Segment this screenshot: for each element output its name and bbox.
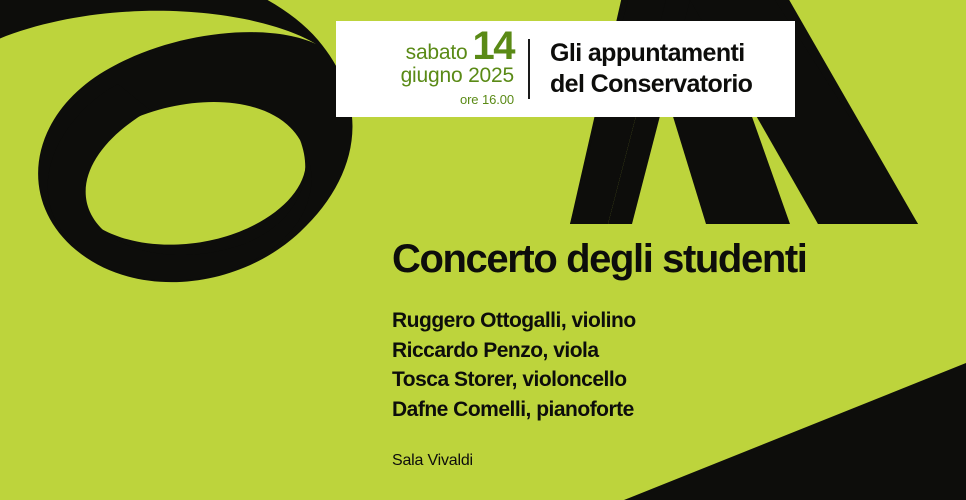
date-primary-line: sabato 14: [336, 29, 514, 63]
event-poster: sabato 14 giugno 2025 ore 16.00 Gli appu…: [0, 0, 966, 500]
performer-item: Ruggero Ottogalli, violino: [392, 306, 922, 336]
event-date-block: sabato 14 giugno 2025 ore 16.00: [336, 29, 528, 107]
performer-item: Dafne Comelli, pianoforte: [392, 395, 922, 425]
event-start-time: ore 16.00: [336, 92, 514, 107]
date-and-series-banner: sabato 14 giugno 2025 ore 16.00 Gli appu…: [336, 21, 795, 117]
performer-item: Tosca Storer, violoncello: [392, 365, 922, 395]
series-title: Gli appuntamenti del Conservatorio: [530, 38, 752, 100]
concert-title: Concerto degli studenti: [392, 238, 922, 280]
performer-list: Ruggero Ottogalli, violino Riccardo Penz…: [392, 306, 922, 424]
date-weekday: sabato: [406, 42, 468, 63]
date-day-number: 14: [473, 29, 515, 63]
venue-name: Sala Vivaldi: [392, 452, 922, 470]
event-details: Concerto degli studenti Ruggero Ottogall…: [392, 238, 922, 470]
date-month-year: giugno 2025: [336, 64, 514, 89]
performer-item: Riccardo Penzo, viola: [392, 336, 922, 366]
